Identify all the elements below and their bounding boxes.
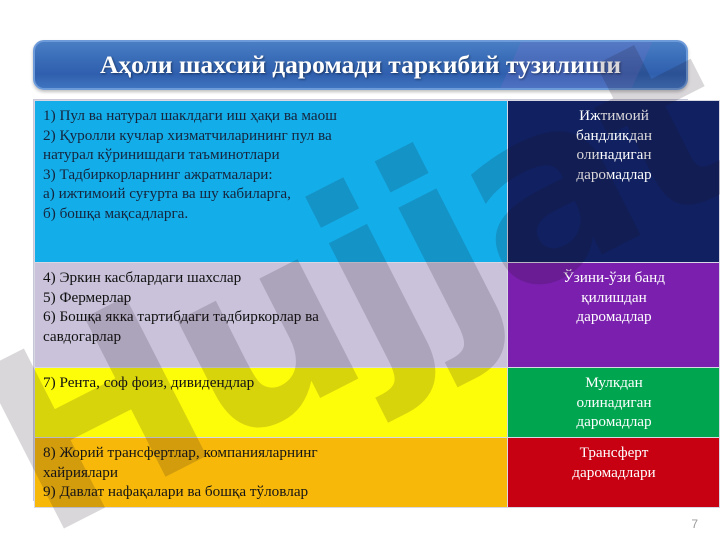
list-item: а) ижтимоий суғурта ва шу кабиларга, bbox=[43, 184, 500, 204]
row-2-category-list: 4) Эркин касблардаги шахслар 5) Фермерла… bbox=[35, 263, 508, 368]
list-item: савдогарлар bbox=[43, 327, 500, 347]
table-row: 7) Рента, соф фоиз, дивидендлар Мулкдан … bbox=[35, 368, 720, 438]
table-row: 1) Пул ва натурал шаклдаги иш ҳақи ва ма… bbox=[35, 101, 720, 263]
table-row: 8) Жорий трансфертлар, компанияларнинг х… bbox=[35, 438, 720, 508]
income-type-line: бандликдан bbox=[516, 126, 712, 146]
income-type-line: Трансферт bbox=[516, 443, 712, 463]
list-item: 2) Қуролли кучлар хизматчиларининг пул в… bbox=[43, 126, 500, 146]
list-item: 9) Давлат нафақалари ва бошқа тўловлар bbox=[43, 482, 500, 502]
income-type-line: олинадиган bbox=[516, 145, 712, 165]
income-type-line: даромадлар bbox=[516, 165, 712, 185]
list-item: 5) Фермерлар bbox=[43, 288, 500, 308]
slide-canvas: Hujjat Аҳоли шахсий даромади таркибий ту… bbox=[0, 0, 720, 540]
row-2-income-type: Ўзини-ўзи банд қилишдан даромадлар bbox=[508, 263, 720, 368]
income-type-line: Ижтимоий bbox=[516, 106, 712, 126]
row-4-income-type: Трансферт даромадлари bbox=[508, 438, 720, 508]
income-type-line: даромадлар bbox=[516, 412, 712, 432]
income-type-line: даромадлари bbox=[516, 463, 712, 483]
list-item: 1) Пул ва натурал шаклдаги иш ҳақи ва ма… bbox=[43, 106, 500, 126]
row-1-category-list: 1) Пул ва натурал шаклдаги иш ҳақи ва ма… bbox=[35, 101, 508, 263]
income-structure-table: 1) Пул ва натурал шаклдаги иш ҳақи ва ма… bbox=[33, 99, 688, 501]
income-type-line: даромадлар bbox=[516, 307, 712, 327]
list-item: 7) Рента, соф фоиз, дивидендлар bbox=[43, 373, 500, 393]
list-item: 8) Жорий трансфертлар, компанияларнинг bbox=[43, 443, 500, 463]
row-3-category-list: 7) Рента, соф фоиз, дивидендлар bbox=[35, 368, 508, 438]
list-item: б) бошқа мақсадларга. bbox=[43, 204, 500, 224]
list-item: 4) Эркин касблардаги шахслар bbox=[43, 268, 500, 288]
income-type-line: қилишдан bbox=[516, 288, 712, 308]
list-item: натурал кўринишдаги таъминотлари bbox=[43, 145, 500, 165]
list-item: 3) Тадбиркорларнинг ажратмалари: bbox=[43, 165, 500, 185]
row-4-category-list: 8) Жорий трансфертлар, компанияларнинг х… bbox=[35, 438, 508, 508]
income-type-line: Мулкдан bbox=[516, 373, 712, 393]
table-row: 4) Эркин касблардаги шахслар 5) Фермерла… bbox=[35, 263, 720, 368]
income-type-line: олинадиган bbox=[516, 393, 712, 413]
row-1-income-type: Ижтимоий бандликдан олинадиган даромадла… bbox=[508, 101, 720, 263]
income-type-line: Ўзини-ўзи банд bbox=[516, 268, 712, 288]
slide-title-banner: Аҳоли шахсий даромади таркибий тузилиши bbox=[33, 40, 688, 90]
page-title: Аҳоли шахсий даромади таркибий тузилиши bbox=[100, 50, 621, 80]
row-3-income-type: Мулкдан олинадиган даромадлар bbox=[508, 368, 720, 438]
page-number: 7 bbox=[691, 517, 698, 531]
list-item: 6) Бошқа якка тартибдаги тадбиркорлар ва bbox=[43, 307, 500, 327]
list-item: хайриялари bbox=[43, 463, 500, 483]
